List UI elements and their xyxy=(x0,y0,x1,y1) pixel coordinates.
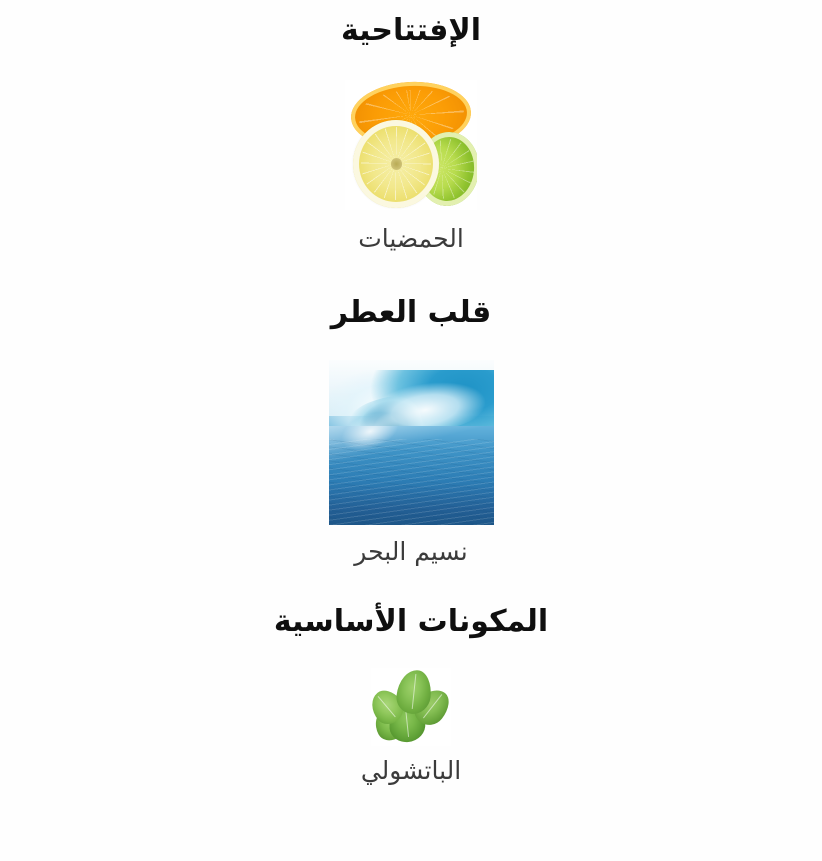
note-caption-patchouli: الباتشولي xyxy=(361,756,461,786)
note-section-heart: قلب العطر نسيم البحر xyxy=(0,296,822,568)
section-heading-base: المكونات الأساسية xyxy=(274,605,548,640)
fragrance-notes-page: الإفتتاحية الحمضيات قلب العطر نسيم البحر… xyxy=(0,0,822,861)
note-section-top: الإفتتاحية الحمضيات xyxy=(0,14,822,254)
note-caption-citrus: الحمضيات xyxy=(358,224,464,254)
ocean-wave-photo xyxy=(329,360,494,525)
section-heading-heart: قلب العطر xyxy=(331,296,491,331)
note-caption-sea-breeze: نسيم البحر xyxy=(354,537,467,567)
citrus-fruits-photo xyxy=(345,80,477,210)
section-heading-top: الإفتتاحية xyxy=(341,14,481,49)
note-section-base: المكونات الأساسية الباتشولي xyxy=(0,605,822,786)
lemon-slice-shape xyxy=(353,120,439,208)
patchouli-leaves-photo xyxy=(371,668,451,746)
